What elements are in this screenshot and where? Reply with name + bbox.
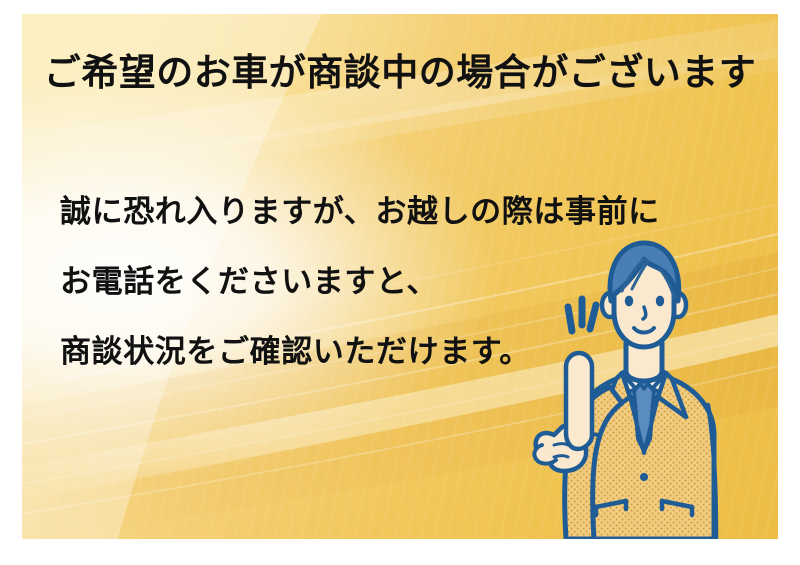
page-title: ご希望のお車が商談中の場合がございます <box>22 54 778 91</box>
notice-body-line-1: 誠に恐れ入りますが、お越しの際は事前に <box>60 177 660 247</box>
notice-body-line-3: 商談状況をご確認いただけます。 <box>60 317 660 387</box>
notice-body: 誠に恐れ入りますが、お越しの際は事前に お電話をくださいますと、 商談状況をご確… <box>60 177 660 387</box>
gradient-panel: ご希望のお車が商談中の場合がございます 誠に恐れ入りますが、お越しの際は事前に … <box>22 14 778 539</box>
notice-body-line-2: お電話をくださいますと、 <box>60 247 660 317</box>
notice-banner: ご希望のお車が商談中の場合がございます 誠に恐れ入りますが、お越しの際は事前に … <box>0 0 800 565</box>
